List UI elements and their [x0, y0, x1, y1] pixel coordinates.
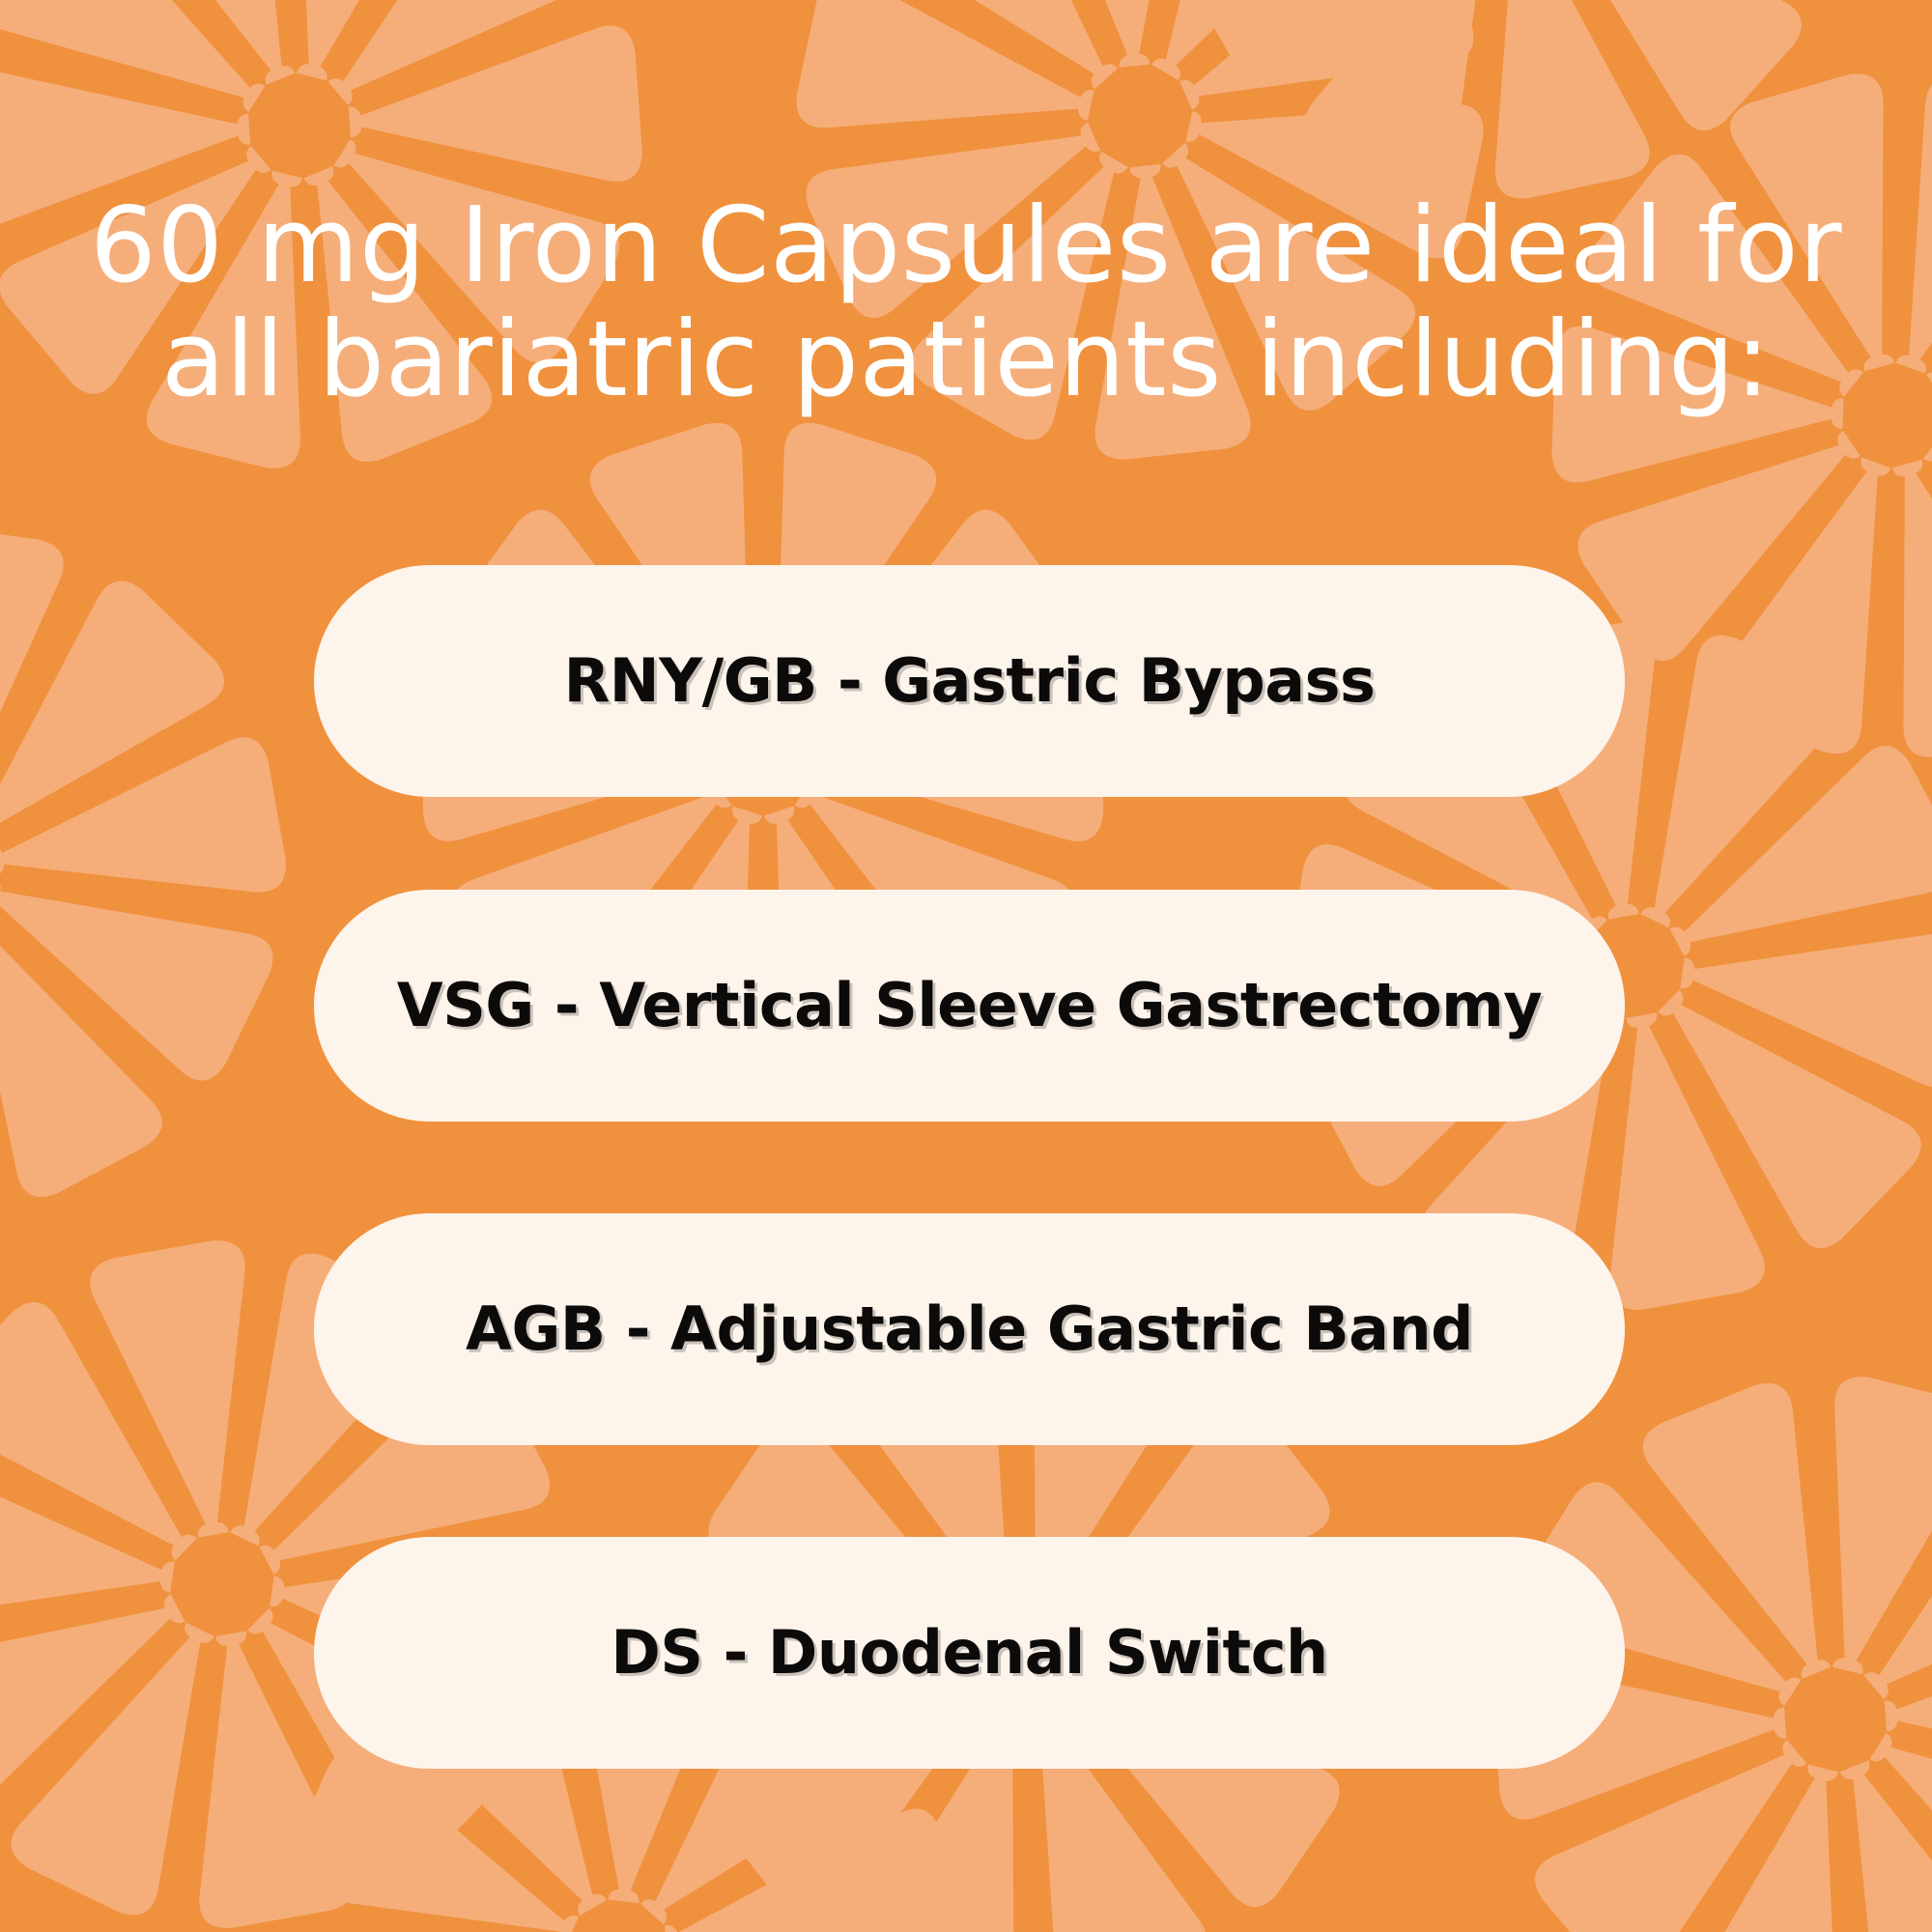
page-title: 60 mg Iron Capsules are ideal for all ba… [0, 189, 1932, 417]
list-item-agb[interactable]: AGB - Adjustable Gastric Band [314, 1213, 1625, 1445]
poster-content: 60 mg Iron Capsules are ideal for all ba… [0, 0, 1932, 1932]
list-item-label: VSG - Vertical Sleeve Gastrectomy [397, 972, 1542, 1039]
list-item-vsg[interactable]: VSG - Vertical Sleeve Gastrectomy [314, 890, 1625, 1122]
list-item-label: AGB - Adjustable Gastric Band [466, 1295, 1473, 1363]
poster-canvas: 60 mg Iron Capsules are ideal for all ba… [0, 0, 1932, 1932]
headline-line-1: 60 mg Iron Capsules are ideal for [0, 189, 1932, 303]
list-item-label: RNY/GB - Gastric Bypass [564, 647, 1376, 715]
list-item-label: DS - Duodenal Switch [611, 1619, 1327, 1687]
list-item-rny-gb[interactable]: RNY/GB - Gastric Bypass [314, 565, 1625, 797]
headline-line-2: all bariatric patients including: [0, 303, 1932, 417]
list-item-ds[interactable]: DS - Duodenal Switch [314, 1537, 1625, 1769]
